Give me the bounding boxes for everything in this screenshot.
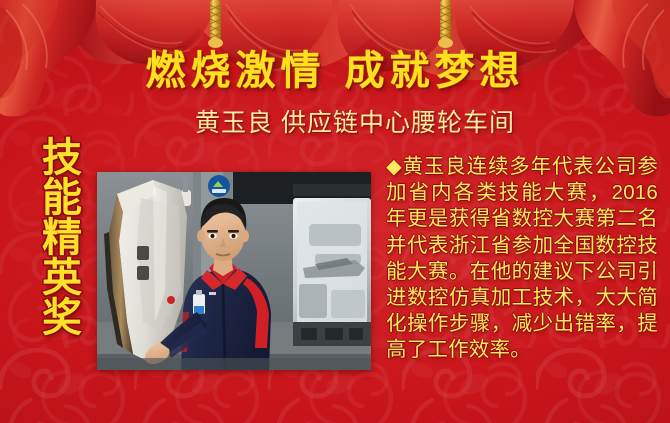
award-char-2: 精: [36, 218, 88, 258]
worker-photo: [97, 172, 371, 370]
award-description-text: ◆黄玉良连续多年代表公司参加省内各类技能大赛，2016年更是获得省数控大赛第二名…: [386, 154, 658, 364]
award-char-1: 能: [36, 178, 88, 218]
award-char-4: 奖: [36, 298, 88, 338]
award-title-vertical: 技 能 精 英 奖: [36, 138, 88, 338]
page-title: 燃烧激情 成就梦想: [0, 38, 670, 96]
subtitle-name-department: 黄玉良 供应链中心腰轮车间: [0, 103, 670, 139]
poster-root: 燃烧激情 成就梦想 黄玉良 供应链中心腰轮车间 技 能 精 英 奖: [0, 0, 670, 423]
award-char-0: 技: [36, 138, 88, 178]
award-char-3: 英: [36, 258, 88, 298]
